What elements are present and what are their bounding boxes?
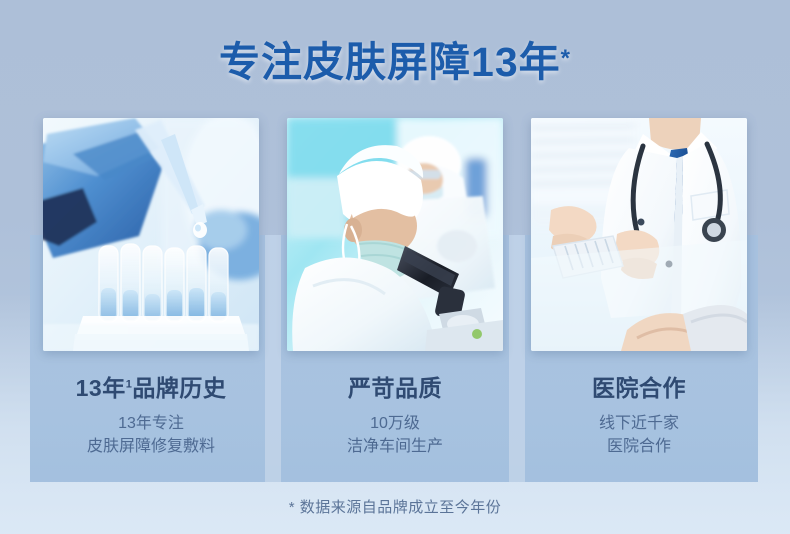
lab-pipette-test-tubes-photo — [43, 118, 259, 351]
column-subtitle: 13年专注 皮肤屏障修复敷料 — [87, 412, 215, 458]
doctor-consultation-photo — [531, 118, 747, 351]
feature-column-brand-history: 13年1品牌历史 13年专注 皮肤屏障修复敷料 — [43, 118, 259, 458]
column-title: 严苛品质 — [348, 375, 442, 403]
column-title-main: 13年 — [76, 375, 126, 401]
column-subtitle-line1: 13年专注 — [87, 412, 215, 435]
column-subtitle: 线下近千家 医院合作 — [599, 412, 679, 458]
column-title-main: 医院合作 — [592, 375, 686, 401]
cleanroom-microscope-photo — [287, 118, 503, 351]
page-title: 专注皮肤屏障13年* — [0, 40, 790, 85]
page-title-asterisk: * — [561, 45, 571, 72]
column-title-main: 严苛品质 — [348, 375, 442, 401]
column-title-rest: 品牌历史 — [132, 375, 226, 401]
column-subtitle-line2: 洁净车间生产 — [347, 435, 443, 458]
page-title-text: 专注皮肤屏障13年 — [219, 39, 561, 85]
column-subtitle-line1: 10万级 — [347, 412, 443, 435]
column-subtitle-line1: 线下近千家 — [599, 412, 679, 435]
feature-column-quality: 严苛品质 10万级 洁净车间生产 — [287, 118, 503, 458]
feature-columns: 13年1品牌历史 13年专注 皮肤屏障修复敷料 — [0, 118, 790, 458]
promo-poster: 专注皮肤屏障13年* — [0, 0, 790, 534]
column-title: 13年1品牌历史 — [76, 375, 227, 403]
column-subtitle-line2: 医院合作 — [599, 435, 679, 458]
column-title: 医院合作 — [592, 375, 686, 403]
feature-column-hospital: 医院合作 线下近千家 医院合作 — [531, 118, 747, 458]
column-subtitle: 10万级 洁净车间生产 — [347, 412, 443, 458]
column-subtitle-line2: 皮肤屏障修复敷料 — [87, 435, 215, 458]
footnote-text: * 数据来源自品牌成立至今年份 — [0, 496, 790, 517]
